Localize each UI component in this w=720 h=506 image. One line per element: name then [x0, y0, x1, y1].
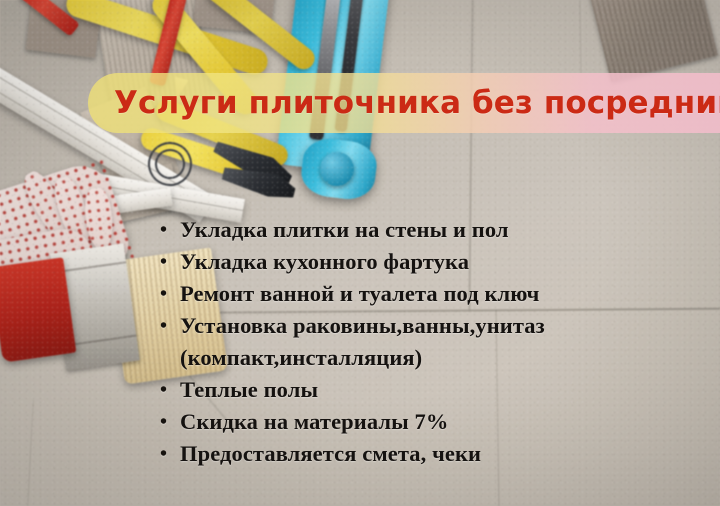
- service-label: Теплые полы: [180, 374, 680, 406]
- service-label: Скидка на материалы 7%: [180, 406, 680, 438]
- list-item: • Установка раковины,ванны,унитаз: [160, 310, 680, 342]
- headline-banner: Услуги плиточника без посредников: [88, 73, 720, 133]
- bullet-icon: •: [160, 310, 180, 342]
- bullet-icon: •: [160, 406, 180, 438]
- service-label: Укладка плитки на стены и пол: [180, 214, 680, 246]
- bullet-icon: •: [160, 246, 180, 278]
- bullet-icon: •: [160, 278, 180, 310]
- list-item: • Теплые полы: [160, 374, 680, 406]
- service-label: Ремонт ванной и туалета под ключ: [180, 278, 680, 310]
- list-item-continuation: (компакт,инсталляция): [160, 342, 680, 374]
- bullet-icon: •: [160, 438, 180, 470]
- bullet-icon: •: [160, 374, 180, 406]
- service-label: Предоставляется смета, чеки: [180, 438, 680, 470]
- services-list: • Укладка плитки на стены и пол • Укладк…: [160, 214, 680, 470]
- service-label: Установка раковины,ванны,унитаз: [180, 310, 680, 342]
- list-item: • Укладка плитки на стены и пол: [160, 214, 680, 246]
- bullet-icon: •: [160, 214, 180, 246]
- poster-image: Услуги плиточника без посредников • Укла…: [0, 0, 720, 506]
- list-item: • Ремонт ванной и туалета под ключ: [160, 278, 680, 310]
- service-label: (компакт,инсталляция): [180, 342, 680, 374]
- service-label: Укладка кухонного фартука: [180, 246, 680, 278]
- list-item: • Предоставляется смета, чеки: [160, 438, 680, 470]
- list-item: • Скидка на материалы 7%: [160, 406, 680, 438]
- list-item: • Укладка кухонного фартука: [160, 246, 680, 278]
- headline-text: Услуги плиточника без посредников: [88, 88, 720, 119]
